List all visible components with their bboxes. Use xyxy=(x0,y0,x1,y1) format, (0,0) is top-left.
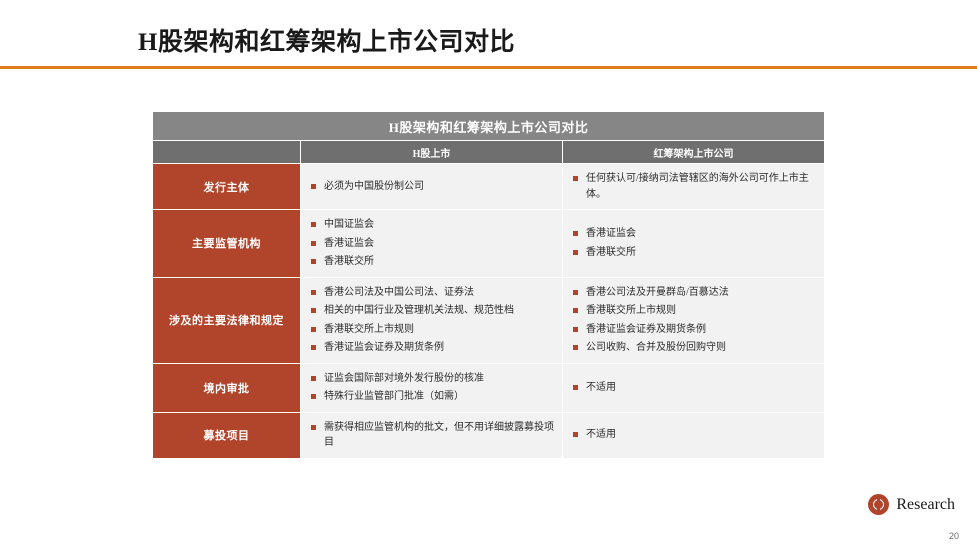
bullet-text: 香港联交所上市规则 xyxy=(586,305,676,316)
bullet-text: 不适用 xyxy=(586,382,616,393)
cell-regulators-h-shares: 中国证监会 香港证监会 香港联交所 xyxy=(301,210,563,278)
bullet-square-icon xyxy=(311,259,316,264)
table-row: 发行主体 必须为中国股份制公司 任何获认可/接纳司法管辖区的海外公司可作上市主体… xyxy=(153,164,825,210)
bullet-item: 公司收购、合并及股份回购守则 xyxy=(573,340,816,356)
bullet-item: 需获得相应监管机构的批文，但不用详细披露募投项目 xyxy=(311,420,554,451)
cell-domestic-approval-red-chip: 不适用 xyxy=(563,363,825,412)
table-row: 涉及的主要法律和规定 香港公司法及中国公司法、证券法 相关的中国行业及管理机关法… xyxy=(153,277,825,363)
bullet-text: 香港证监会 xyxy=(586,228,636,239)
bullet-square-icon xyxy=(573,250,578,255)
bullet-square-icon xyxy=(311,308,316,313)
bullet-text: 中国证监会 xyxy=(324,219,374,230)
bullet-square-icon xyxy=(311,376,316,381)
bullet-item: 香港联交所 xyxy=(311,254,554,270)
cell-use-of-proceeds-red-chip: 不适用 xyxy=(563,412,825,458)
cell-laws-h-shares: 香港公司法及中国公司法、证券法 相关的中国行业及管理机关法规、规范性档 香港联交… xyxy=(301,277,563,363)
row-label-regulators: 主要监管机构 xyxy=(153,210,301,278)
bullet-square-icon xyxy=(573,385,578,390)
cell-regulators-red-chip: 香港证监会 香港联交所 xyxy=(563,210,825,278)
bullet-text: 需获得相应监管机构的批文，但不用详细披露募投项目 xyxy=(324,422,554,449)
bullet-text: 任何获认可/接纳司法管辖区的海外公司可作上市主体。 xyxy=(586,173,809,200)
row-label-use-of-proceeds: 募投项目 xyxy=(153,412,301,458)
bullet-text: 必须为中国股份制公司 xyxy=(324,181,424,192)
bullet-square-icon xyxy=(311,241,316,246)
bullet-text: 香港证监会证券及期货条例 xyxy=(324,342,444,353)
bullet-square-icon xyxy=(311,290,316,295)
bullet-square-icon xyxy=(311,425,316,430)
bullet-square-icon xyxy=(311,222,316,227)
bullet-text: 公司收购、合并及股份回购守则 xyxy=(586,342,726,353)
cell-domestic-approval-h-shares: 证监会国际部对境外发行股份的核准 特殊行业监管部门批准（如需） xyxy=(301,363,563,412)
bullet-text: 证监会国际部对境外发行股份的核准 xyxy=(324,373,484,384)
bullet-text: 香港证监会证券及期货条例 xyxy=(586,324,706,335)
brand-name: Research xyxy=(896,496,955,514)
bullet-item: 相关的中国行业及管理机关法规、规范性档 xyxy=(311,303,554,319)
bullet-item: 香港公司法及中国公司法、证券法 xyxy=(311,285,554,301)
bullet-item: 不适用 xyxy=(573,380,816,396)
bullet-item: 香港证监会证券及期货条例 xyxy=(573,322,816,338)
row-label-laws: 涉及的主要法律和规定 xyxy=(153,277,301,363)
header-divider xyxy=(0,66,977,69)
table-row: 主要监管机构 中国证监会 香港证监会 香港联交所 香港证监会 香港联交所 xyxy=(153,210,825,278)
bullet-square-icon xyxy=(573,176,578,181)
bullet-text: 香港联交所 xyxy=(324,256,374,267)
column-header-red-chip: 红筹架构上市公司 xyxy=(563,141,825,164)
row-label-issuer: 发行主体 xyxy=(153,164,301,210)
bullet-text: 香港公司法及中国公司法、证券法 xyxy=(324,287,474,298)
cell-use-of-proceeds-h-shares: 需获得相应监管机构的批文，但不用详细披露募投项目 xyxy=(301,412,563,458)
bullet-item: 证监会国际部对境外发行股份的核准 xyxy=(311,371,554,387)
bullet-item: 不适用 xyxy=(573,427,816,443)
wechat-brand-icon xyxy=(868,494,889,515)
table-header-row: H股上市 红筹架构上市公司 xyxy=(153,141,825,164)
bullet-square-icon xyxy=(311,327,316,332)
cell-laws-red-chip: 香港公司法及开曼群岛/百慕达法 香港联交所上市规则 香港证监会证券及期货条例 公… xyxy=(563,277,825,363)
bullet-text: 香港联交所上市规则 xyxy=(324,324,414,335)
row-label-domestic-approval: 境内审批 xyxy=(153,363,301,412)
bullet-item: 特殊行业监管部门批准（如需） xyxy=(311,389,554,405)
bullet-text: 相关的中国行业及管理机关法规、规范性档 xyxy=(324,305,514,316)
bullet-item: 香港证监会 xyxy=(573,226,816,242)
bullet-item: 必须为中国股份制公司 xyxy=(311,179,554,195)
bullet-square-icon xyxy=(311,394,316,399)
comparison-table: H股架构和红筹架构上市公司对比 H股上市 红筹架构上市公司 发行主体 必须为中国… xyxy=(152,111,825,459)
bullet-item: 香港证监会 xyxy=(311,236,554,252)
column-header-h-shares: H股上市 xyxy=(301,141,563,164)
bullet-square-icon xyxy=(573,432,578,437)
brand-logo: Research xyxy=(868,494,955,515)
bullet-square-icon xyxy=(573,327,578,332)
table-row: 境内审批 证监会国际部对境外发行股份的核准 特殊行业监管部门批准（如需） 不适用 xyxy=(153,363,825,412)
slide: H股架构和红筹架构上市公司对比 H股架构和红筹架构上市公司对比 H股上市 红筹架… xyxy=(0,0,977,549)
column-header-blank xyxy=(153,141,301,164)
cell-issuer-h-shares: 必须为中国股份制公司 xyxy=(301,164,563,210)
bullet-square-icon xyxy=(573,308,578,313)
table-caption: H股架构和红筹架构上市公司对比 xyxy=(153,112,825,141)
bullet-item: 香港联交所 xyxy=(573,245,816,261)
bullet-item: 香港联交所上市规则 xyxy=(573,303,816,319)
bullet-square-icon xyxy=(311,184,316,189)
bullet-text: 香港联交所 xyxy=(586,247,636,258)
bullet-text: 香港证监会 xyxy=(324,238,374,249)
bullet-square-icon xyxy=(573,231,578,236)
bullet-square-icon xyxy=(573,290,578,295)
bullet-square-icon xyxy=(311,345,316,350)
page-title: H股架构和红筹架构上市公司对比 xyxy=(138,22,515,58)
bullet-item: 香港证监会证券及期货条例 xyxy=(311,340,554,356)
bullet-square-icon xyxy=(573,345,578,350)
bullet-item: 香港联交所上市规则 xyxy=(311,322,554,338)
table-caption-row: H股架构和红筹架构上市公司对比 xyxy=(153,112,825,141)
bullet-item: 中国证监会 xyxy=(311,217,554,233)
page-number: 20 xyxy=(949,531,959,541)
bullet-text: 香港公司法及开曼群岛/百慕达法 xyxy=(586,287,729,298)
bullet-item: 香港公司法及开曼群岛/百慕达法 xyxy=(573,285,816,301)
cell-issuer-red-chip: 任何获认可/接纳司法管辖区的海外公司可作上市主体。 xyxy=(563,164,825,210)
bullet-text: 特殊行业监管部门批准（如需） xyxy=(324,391,464,402)
comparison-table-wrapper: H股架构和红筹架构上市公司对比 H股上市 红筹架构上市公司 发行主体 必须为中国… xyxy=(152,111,824,459)
table-row: 募投项目 需获得相应监管机构的批文，但不用详细披露募投项目 不适用 xyxy=(153,412,825,458)
bullet-text: 不适用 xyxy=(586,429,616,440)
bullet-item: 任何获认可/接纳司法管辖区的海外公司可作上市主体。 xyxy=(573,171,816,202)
